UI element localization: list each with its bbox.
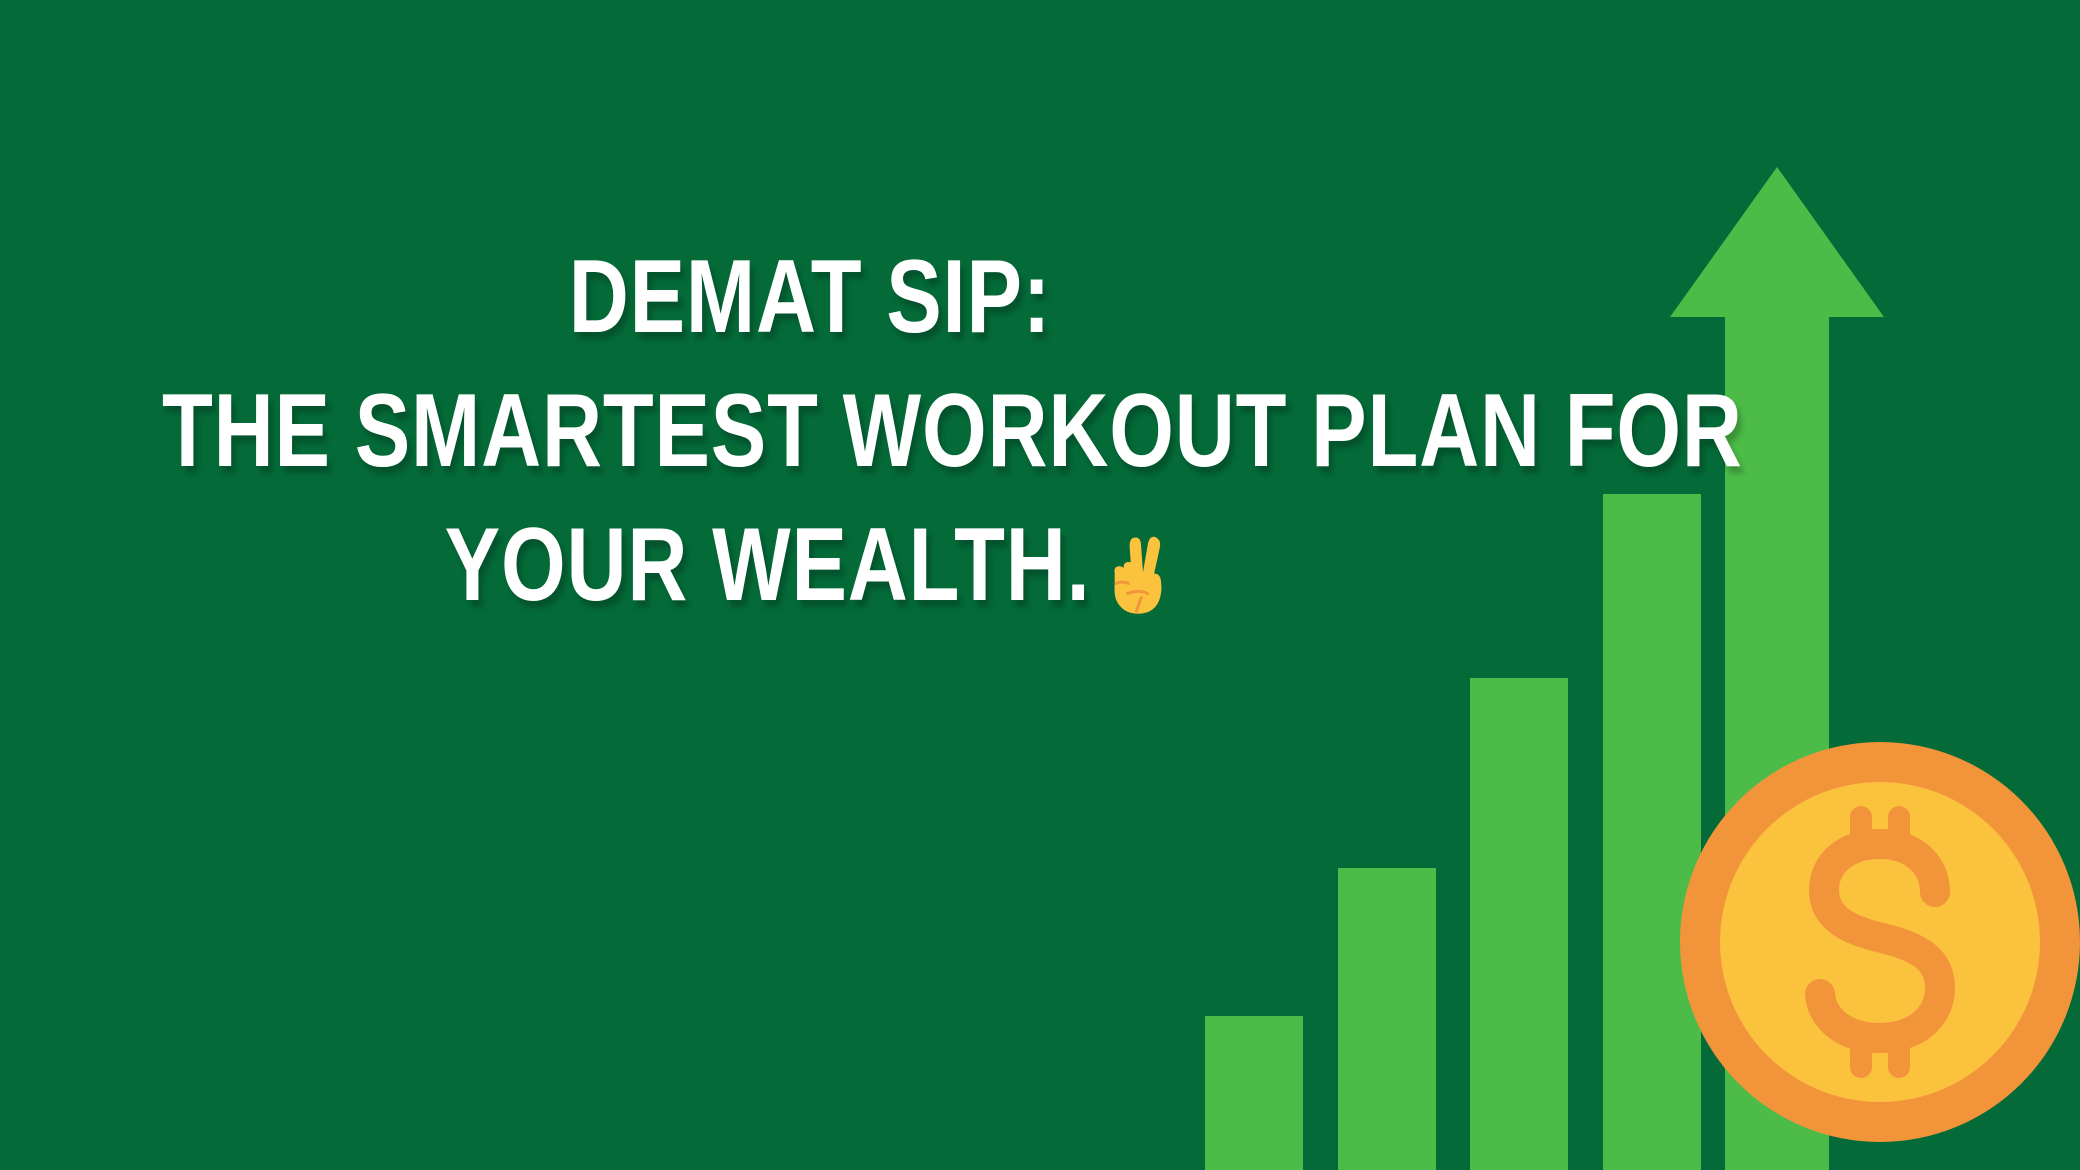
headline-line-2: The smartest workout plan for xyxy=(162,370,1458,492)
headline-block: Demat SIP: The smartest workout plan for… xyxy=(0,236,1620,626)
headline-line-3-wrap: your wealth. xyxy=(162,504,1458,626)
headline-line-1: Demat SIP: xyxy=(162,236,1458,358)
bar-2 xyxy=(1338,868,1436,1170)
dollar-coin-icon xyxy=(1680,742,2080,1142)
bar-1 xyxy=(1205,1016,1303,1170)
arrow-head xyxy=(1670,167,1884,317)
coin-face xyxy=(1720,782,2040,1102)
dollar-sign-glyph xyxy=(1720,782,2040,1102)
headline-line-3: your wealth. xyxy=(445,507,1091,623)
banner-root: Demat SIP: The smartest workout plan for… xyxy=(0,0,2080,1170)
victory-hand-emoji xyxy=(1102,526,1176,618)
bar-3 xyxy=(1470,678,1568,1170)
